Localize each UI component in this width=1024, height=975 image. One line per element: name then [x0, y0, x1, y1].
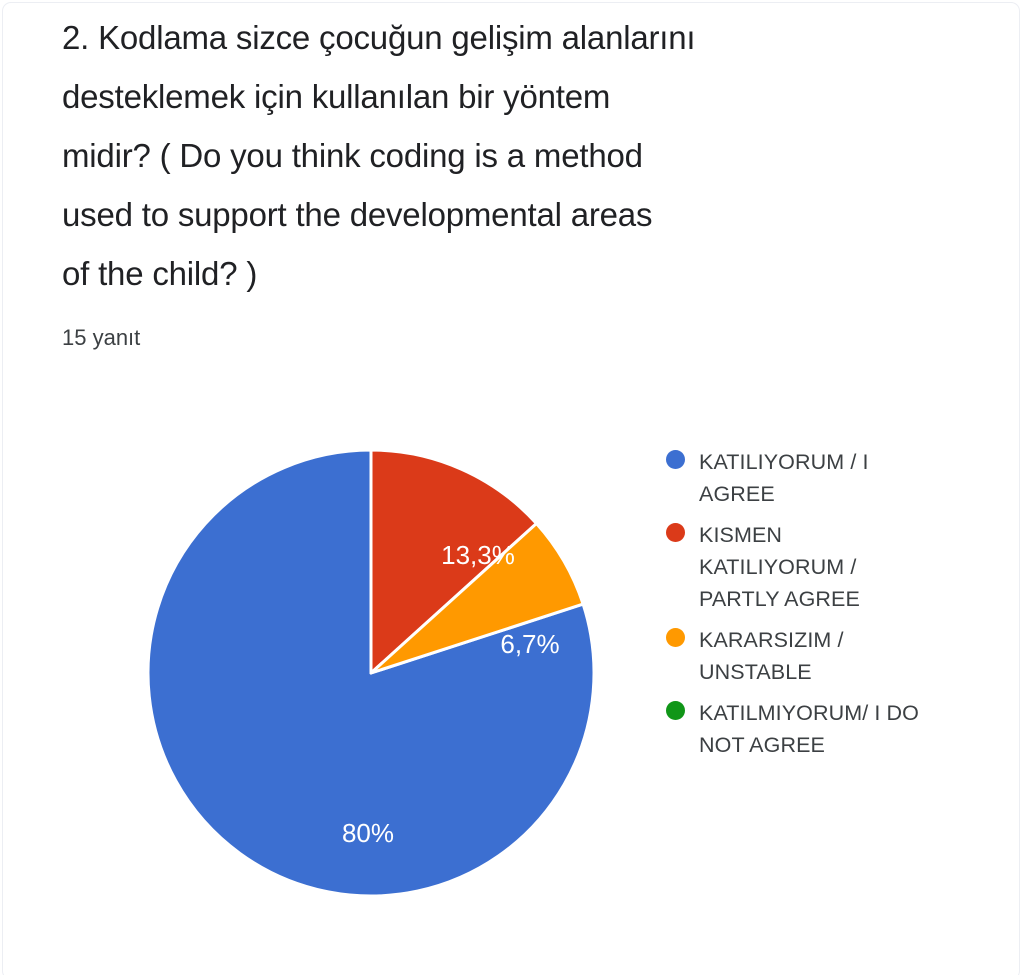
legend-swatch-green [666, 701, 685, 720]
legend-item[interactable]: KARARSIZIM / UNSTABLE [666, 624, 996, 688]
pie-slice-value-label: 80% [342, 818, 394, 848]
legend-item-label: KATILIYORUM / I AGREE [699, 446, 869, 510]
legend-item[interactable]: KATILMIYORUM/ I DO NOT AGREE [666, 697, 996, 761]
pie-slice-value-label: 6,7% [500, 629, 559, 659]
form-response-card: 2. Kodlama sizce çocuğun gelişim alanlar… [0, 0, 1024, 975]
legend-item-label: KISMEN KATILIYORUM / PARTLY AGREE [699, 519, 860, 615]
legend-item[interactable]: KISMEN KATILIYORUM / PARTLY AGREE [666, 519, 996, 615]
question-title: 2. Kodlama sizce çocuğun gelişim alanlar… [62, 8, 872, 303]
legend-swatch-orange [666, 628, 685, 647]
pie-slice-value-label: 13,3% [441, 540, 515, 570]
pie-chart-svg: 80%13,3%6,7% [140, 442, 600, 902]
legend-item[interactable]: KATILIYORUM / I AGREE [666, 446, 996, 510]
legend-swatch-red [666, 523, 685, 542]
pie-chart-area: 80%13,3%6,7% KATILIYORUM / I AGREEKISMEN… [0, 380, 1024, 940]
response-count-label: 15 yanıt [62, 323, 140, 353]
question-block: 2. Kodlama sizce çocuğun gelişim alanlar… [62, 8, 872, 303]
legend-item-label: KARARSIZIM / UNSTABLE [699, 624, 844, 688]
legend-item-label: KATILMIYORUM/ I DO NOT AGREE [699, 697, 919, 761]
chart-legend: KATILIYORUM / I AGREEKISMEN KATILIYORUM … [666, 446, 996, 770]
legend-swatch-blue [666, 450, 685, 469]
pie-chart: 80%13,3%6,7% [140, 442, 600, 902]
